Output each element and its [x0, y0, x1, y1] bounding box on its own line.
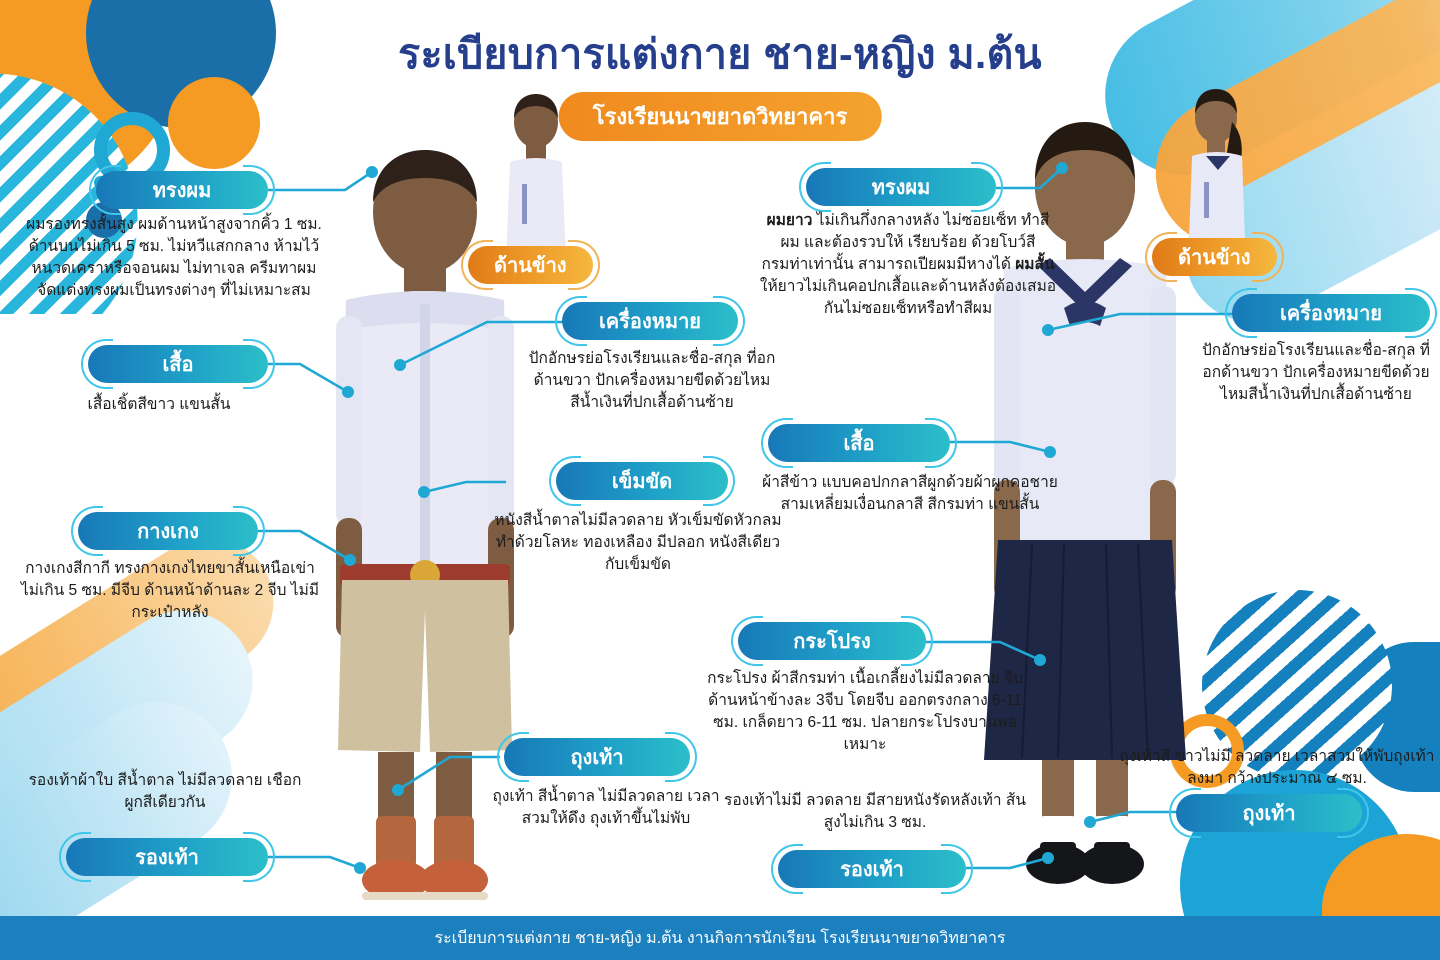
- badge-girl-side-view: ด้านข้าง: [1152, 238, 1277, 276]
- label-boy-belt: เข็มขัด: [556, 462, 728, 500]
- text-girl-hair-short: ให้ยาวไม่เกินคอปกเสื้อและด้านหลังต้องเสม…: [760, 278, 1056, 317]
- text-girl-hair: ผมยาว ไม่เกินกึ่งกลางหลัง ไม่ซอยเซ็ท ทำส…: [758, 210, 1058, 320]
- label-girl-hair: ทรงผม: [806, 168, 996, 206]
- label-girl-skirt: กระโปรง: [738, 622, 926, 660]
- text-boy-hair: ผมรองทรงสั้นสูง ผมด้านหน้าสูงจากคิ้ว 1 ซ…: [24, 214, 324, 302]
- label-girl-socks: ถุงเท้า: [1176, 794, 1362, 832]
- text-girl-hair-long-tag: ผมยาว: [767, 212, 813, 229]
- label-boy-shirt: เสื้อ: [88, 345, 268, 383]
- label-boy-shoes: รองเท้า: [66, 838, 268, 876]
- text-girl-skirt: กระโปรง ผ้าสีกรมท่า เนื้อเกลี้ยงไม่มีลวด…: [706, 668, 1024, 756]
- text-boy-trousers: กางเกงสีกากี ทรงกางเกงไทยขาสั้นเหนือเข่า…: [20, 558, 320, 624]
- text-boy-shirt: เสื้อเชิ้ตสีขาว แขนสั้น: [24, 394, 294, 416]
- label-boy-hair: ทรงผม: [96, 171, 268, 209]
- infographic-poster: ระเบียบการแต่งกาย ชาย-หญิง ม.ต้น โรงเรีย…: [0, 0, 1440, 960]
- label-boy-emblem: เครื่องหมาย: [562, 302, 738, 340]
- text-boy-socks: ถุงเท้า สีน้ำตาล ไม่มีลวดลาย เวลาสวมให้ด…: [484, 786, 728, 830]
- label-boy-socks: ถุงเท้า: [504, 738, 690, 776]
- label-girl-shoes: รองเท้า: [778, 850, 966, 888]
- text-boy-shoes: รองเท้าผ้าใบ สีน้ำตาล ไม่มีลวดลาย เชือกผ…: [20, 770, 310, 814]
- text-girl-hair-short-tag: ผมสั้น: [1015, 256, 1054, 273]
- text-boy-emblem: ปักอักษรย่อโรงเรียนและชื่อ-สกุล ที่อกด้า…: [518, 348, 786, 414]
- text-girl-emblem: ปักอักษรย่อโรงเรียนและชื่อ-สกุล ที่อกด้า…: [1196, 340, 1436, 406]
- school-name-badge: โรงเรียนนาขยาดวิทยาคาร: [559, 92, 882, 141]
- page-title: ระเบียบการแต่งกาย ชาย-หญิง ม.ต้น: [0, 22, 1440, 87]
- text-girl-shoes: รองเท้าไม่มี ลวดลาย มีสายหนังรัดหลังเท้า…: [722, 790, 1028, 834]
- text-girl-socks: ถุงเท้าสี ขาวไม่มี ลวดลาย เวลาสวมให้พับถ…: [1118, 746, 1436, 790]
- footer-text: ระเบียบการแต่งกาย ชาย-หญิง ม.ต้น งานกิจก…: [434, 926, 1005, 951]
- label-girl-shirt: เสื้อ: [768, 424, 950, 462]
- label-girl-emblem: เครื่องหมาย: [1232, 294, 1430, 332]
- label-boy-trousers: กางเกง: [78, 512, 258, 550]
- footer-bar: ระเบียบการแต่งกาย ชาย-หญิง ม.ต้น งานกิจก…: [0, 916, 1440, 960]
- decor-top-left-orange-small-circle: [168, 77, 260, 169]
- badge-boy-side-view: ด้านข้าง: [468, 246, 593, 284]
- text-girl-shirt: ผ้าสีข้าว แบบคอปกกลาสีผูกด้วยผ้าผูกคอชาย…: [762, 472, 1058, 516]
- text-boy-belt: หนังสีน้ำตาลไม่มีลวดลาย หัวเข็มขัดหัวกลม…: [488, 510, 788, 576]
